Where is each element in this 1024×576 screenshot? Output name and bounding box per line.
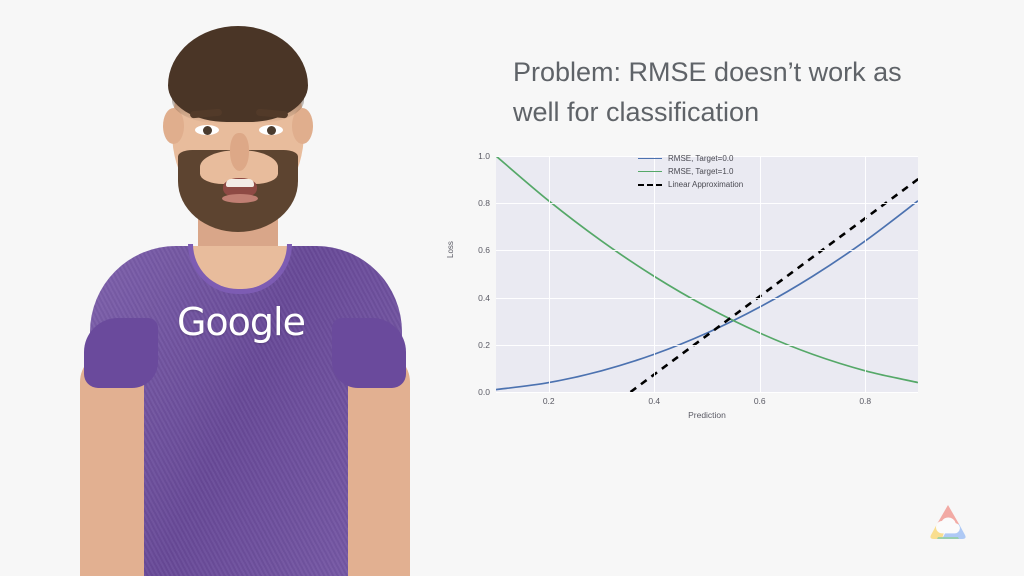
chart-x-tick-label: 0.2 <box>529 396 569 406</box>
chart-horizontal-gridline <box>496 392 918 393</box>
chart-y-tick-label: 0.8 <box>430 198 490 208</box>
presenter-lower-lip <box>222 194 258 203</box>
chart-y-tick-label: 0.6 <box>430 245 490 255</box>
chart-vertical-gridline <box>654 156 655 392</box>
presenter-right-pupil <box>267 126 276 135</box>
google-cloud-logo-svg <box>925 503 971 545</box>
chart-legend: RMSE, Target=0.0RMSE, Target=1.0Linear A… <box>638 154 743 189</box>
chart-legend-item: Linear Approximation <box>638 180 743 189</box>
chart-x-axis-label: Prediction <box>496 410 918 420</box>
chart-curves <box>496 156 918 392</box>
slide-title-line-1: Problem: RMSE doesn’t work as <box>513 52 943 92</box>
chart-horizontal-gridline <box>496 203 918 204</box>
chart-y-axis-label: Loss <box>446 241 455 258</box>
chart-x-tick-label: 0.4 <box>634 396 674 406</box>
chart-y-tick-label: 0.2 <box>430 340 490 350</box>
presenter-nose <box>230 133 249 171</box>
chart-legend-item: RMSE, Target=0.0 <box>638 154 743 163</box>
presenter-teeth <box>226 179 254 187</box>
chart-y-tick-label: 0.4 <box>430 293 490 303</box>
chart-legend-item: RMSE, Target=1.0 <box>638 167 743 176</box>
chart-horizontal-gridline <box>496 298 918 299</box>
chart-legend-label: RMSE, Target=1.0 <box>668 167 733 176</box>
presenter-left-pupil <box>203 126 212 135</box>
presenter-video: Google <box>80 0 410 576</box>
slide-title: Problem: RMSE doesn’t work as well for c… <box>513 52 943 132</box>
chart-x-tick-label: 0.6 <box>740 396 780 406</box>
google-cloud-logo <box>925 503 971 545</box>
chart-series-line <box>496 156 918 383</box>
chart-plot-area <box>496 156 918 392</box>
shirt-google-wordmark: Google <box>80 300 402 344</box>
chart-vertical-gridline <box>760 156 761 392</box>
chart-legend-swatch <box>638 158 662 159</box>
chart-legend-swatch <box>638 171 662 172</box>
chart-legend-label: Linear Approximation <box>668 180 743 189</box>
chart-horizontal-gridline <box>496 345 918 346</box>
slide-title-line-2: well for classification <box>513 92 943 132</box>
chart-y-tick-label: 1.0 <box>430 151 490 161</box>
chart-series-line <box>496 201 918 390</box>
chart-y-tick-label: 0.0 <box>430 387 490 397</box>
chart-x-tick-label: 0.8 <box>845 396 885 406</box>
chart-vertical-gridline <box>549 156 550 392</box>
chart-horizontal-gridline <box>496 250 918 251</box>
rmse-loss-chart: 0.00.20.40.60.81.0 0.20.40.60.8 Loss Pre… <box>460 140 940 430</box>
chart-legend-swatch <box>638 184 662 186</box>
chart-vertical-gridline <box>865 156 866 392</box>
chart-legend-label: RMSE, Target=0.0 <box>668 154 733 163</box>
slide-canvas: Google Problem: RMSE doesn’t work as wel… <box>0 0 1024 576</box>
chart-series-line <box>631 177 918 392</box>
